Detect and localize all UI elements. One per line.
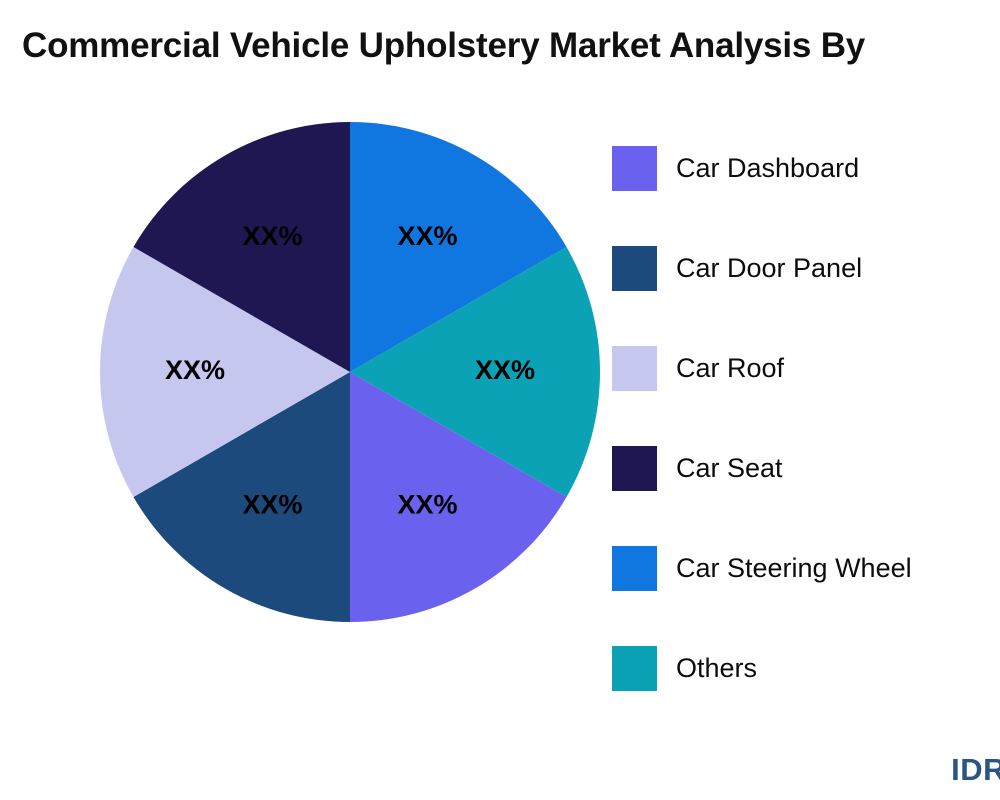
legend-item[interactable]: Car Seat: [612, 418, 1000, 518]
legend-item[interactable]: Car Roof: [612, 318, 1000, 418]
pie-chart: XX%XX%XX%XX%XX%XX%: [100, 122, 600, 622]
legend-item-label: Others: [676, 655, 757, 682]
page-title: Commercial Vehicle Upholstery Market Ana…: [22, 22, 865, 70]
legend-item[interactable]: Car Dashboard: [612, 118, 1000, 218]
legend-color-swatch: [612, 246, 657, 291]
legend-item-label: Car Roof: [676, 355, 784, 382]
brand-logo: IDR: [951, 752, 1000, 788]
pie-slice-label: XX%: [242, 221, 302, 251]
pie-slice-label: XX%: [165, 355, 225, 385]
legend: Car DashboardCar Door PanelCar RoofCar S…: [612, 118, 1000, 718]
legend-color-swatch: [612, 346, 657, 391]
pie-slice-label: XX%: [397, 489, 457, 519]
legend-item[interactable]: Car Steering Wheel: [612, 518, 1000, 618]
legend-item-label: Car Steering Wheel: [676, 555, 912, 582]
legend-item[interactable]: Others: [612, 618, 1000, 718]
legend-color-swatch: [612, 446, 657, 491]
pie-slice-label: XX%: [397, 221, 457, 251]
legend-item[interactable]: Car Door Panel: [612, 218, 1000, 318]
pie-slice-label: XX%: [475, 355, 535, 385]
legend-color-swatch: [612, 146, 657, 191]
legend-color-swatch: [612, 546, 657, 591]
pie-slice-label: XX%: [242, 489, 302, 519]
legend-item-label: Car Seat: [676, 455, 783, 482]
pie-chart-svg: XX%XX%XX%XX%XX%XX%: [100, 122, 600, 622]
legend-item-label: Car Door Panel: [676, 255, 862, 282]
legend-item-label: Car Dashboard: [676, 155, 859, 182]
legend-color-swatch: [612, 646, 657, 691]
